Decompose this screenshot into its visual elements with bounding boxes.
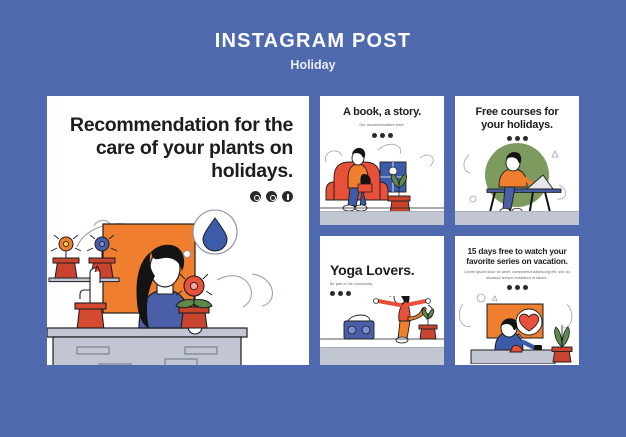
courses-illustration: [455, 141, 579, 211]
plant-care-illustration: [47, 202, 309, 365]
facebook-icon[interactable]: [282, 191, 293, 202]
instagram-icon[interactable]: [250, 191, 261, 202]
hero-social-icons: [67, 191, 293, 202]
post-gallery: Recommendation for the care of your plan…: [47, 96, 579, 365]
series-subtitle: Lorem ipsum dolor sit amet, consectetur …: [463, 270, 571, 281]
post-card-courses[interactable]: Free courses for your holidays.: [455, 96, 579, 225]
series-illustration: [455, 290, 579, 365]
series-copy-block: 15 days free to watch your favorite seri…: [455, 236, 579, 290]
page-title: INSTAGRAM POST: [0, 30, 626, 53]
yoga-illustration: [320, 296, 444, 347]
reading-armchair-illustration: [320, 138, 444, 211]
page-subtitle: Holiday: [0, 58, 626, 72]
page-header: INSTAGRAM POST Holiday: [0, 0, 626, 72]
courses-title: Free courses for your holidays.: [463, 106, 571, 132]
post-column-right: Free courses for your holidays.: [455, 96, 579, 365]
yoga-title: Yoga Lovers.: [330, 262, 436, 278]
yoga-pose-illustration: [320, 296, 444, 347]
yoga-footer-band: [320, 347, 444, 365]
yoga-copy-block: Yoga Lovers. Be part of the community.: [320, 236, 444, 296]
hero-illustration: [47, 202, 309, 365]
book-illustration: [320, 138, 444, 211]
instagram-icon[interactable]: [266, 191, 277, 202]
post-card-book[interactable]: A book, a story. Our recommendation here…: [320, 96, 444, 225]
post-card-yoga[interactable]: Yoga Lovers. Be part of the community.: [320, 236, 444, 365]
yoga-subtitle: Be part of the community.: [330, 282, 436, 287]
book-copy-block: A book, a story. Our recommendation here…: [320, 96, 444, 138]
book-subtitle: Our recommendation here.: [328, 123, 436, 128]
post-card-series[interactable]: 15 days free to watch your favorite seri…: [455, 236, 579, 365]
book-footer-band: [320, 211, 444, 225]
desk-laptop-illustration: [455, 141, 579, 211]
courses-footer-band: [455, 211, 579, 225]
couch-tv-illustration: [455, 290, 579, 364]
book-title: A book, a story.: [328, 106, 436, 119]
hero-copy-block: Recommendation for the care of your plan…: [47, 96, 309, 202]
series-title: 15 days free to watch your favorite seri…: [463, 246, 571, 266]
post-column-middle: A book, a story. Our recommendation here…: [320, 96, 444, 365]
post-card-hero[interactable]: Recommendation for the care of your plan…: [47, 96, 309, 365]
courses-copy-block: Free courses for your holidays.: [455, 96, 579, 141]
hero-headline: Recommendation for the care of your plan…: [67, 114, 293, 182]
